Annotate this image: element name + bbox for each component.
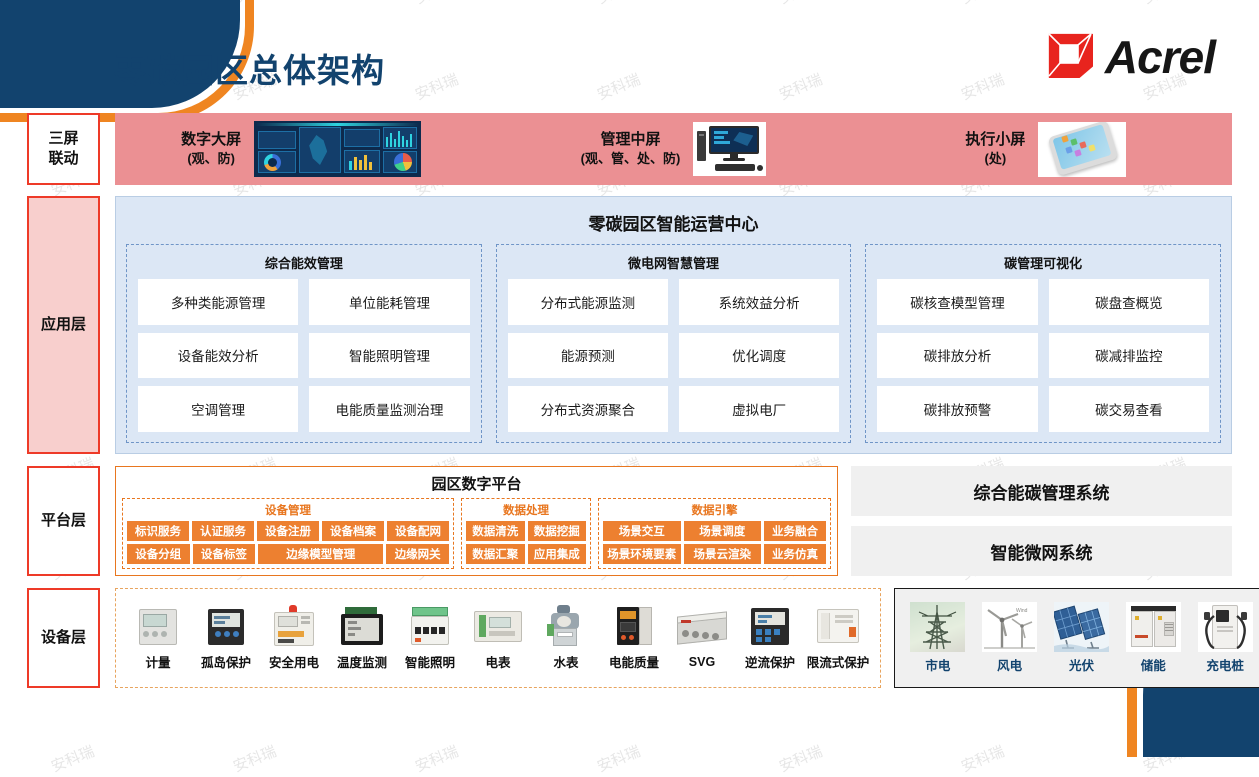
app-card[interactable]: 智能照明管理 — [309, 333, 469, 379]
layer-label-three-screen: 三屏 联动 — [27, 113, 100, 185]
app-group-title: 微电网智慧管理 — [508, 251, 840, 279]
screens-band: 数字大屏 (观、防) — [115, 113, 1232, 185]
application-panel-title: 零碳园区智能运营中心 — [126, 205, 1221, 244]
device-item-svg[interactable]: SVG — [668, 608, 736, 669]
app-card[interactable]: 空调管理 — [138, 386, 298, 432]
platform-group-data-processing: 数据处理 数据清洗 数据挖掘 数据汇聚 应用集成 — [461, 498, 591, 569]
device-label: 电表 — [485, 652, 510, 671]
platform-chip[interactable]: 设备档案 — [322, 521, 384, 541]
brand-logo: Acrel — [1047, 32, 1215, 82]
app-card[interactable]: 碳盘查概览 — [1049, 279, 1209, 325]
svg-text:Wind: Wind — [1016, 608, 1028, 614]
device-item-water-meter[interactable]: 水表 — [532, 605, 600, 671]
app-group-carbon-visualization: 碳管理可视化 碳核查模型管理 碳盘查概览 碳排放分析 碳减排监控 碳排放预警 碳… — [865, 244, 1221, 443]
device-item-island-protection[interactable]: 孤岛保护 — [192, 605, 260, 671]
acrel-logo-icon — [1047, 32, 1097, 82]
device-label: 电能质量 — [609, 652, 659, 671]
source-item-grid-power[interactable]: 市电 — [910, 602, 965, 674]
device-item-electricity-meter[interactable]: 电表 — [464, 605, 532, 671]
platform-chip[interactable]: 设备配网 — [387, 521, 449, 541]
reverse-protection-icon — [743, 605, 797, 649]
digital-platform-box: 园区数字平台 设备管理 标识服务 认证服务 设备注册 设备档案 设备配网 设备 — [115, 466, 838, 576]
energy-meter-icon — [471, 605, 525, 649]
app-card-grid: 分布式能源监测 系统效益分析 能源预测 优化调度 分布式资源聚合 虚拟电厂 — [508, 279, 840, 432]
application-groups: 综合能效管理 多种类能源管理 单位能耗管理 设备能效分析 智能照明管理 空调管理… — [126, 244, 1221, 443]
app-card[interactable]: 虚拟电厂 — [679, 386, 839, 432]
device-item-reverse-power-protection[interactable]: 逆流保护 — [736, 605, 804, 671]
battery-cabinet-icon — [1126, 602, 1181, 652]
watermark-text: 安科瑞 — [230, 740, 280, 776]
platform-group-title: 数据处理 — [466, 501, 586, 521]
platform-chip[interactable]: 场景交互 — [603, 521, 681, 541]
platform-chip-row: 数据汇聚 应用集成 — [466, 544, 586, 564]
desktop-monitor-thumbnail-icon — [693, 122, 766, 176]
platform-chip[interactable]: 边缘模型管理 — [258, 544, 383, 564]
watermark-text: 安科瑞 — [412, 740, 462, 776]
source-label: 光伏 — [1069, 655, 1094, 674]
app-card[interactable]: 分布式能源监测 — [508, 279, 668, 325]
app-card[interactable]: 碳核查模型管理 — [877, 279, 1037, 325]
app-group-title: 碳管理可视化 — [877, 251, 1209, 279]
source-item-wind-power[interactable]: Wind 风电 — [982, 602, 1037, 674]
platform-chip[interactable]: 设备分组 — [127, 544, 190, 564]
screen-sub-big: (观、防) — [181, 150, 241, 168]
safety-device-icon — [267, 605, 321, 649]
device-label: 孤岛保护 — [201, 652, 251, 671]
platform-systems: 综合能碳管理系统 智能微网系统 — [851, 466, 1232, 576]
panel-meter-icon — [335, 605, 389, 649]
source-label: 市电 — [925, 655, 950, 674]
platform-chip[interactable]: 边缘网关 — [386, 544, 449, 564]
app-card[interactable]: 碳排放分析 — [877, 333, 1037, 379]
platform-group-device-management: 设备管理 标识服务 认证服务 设备注册 设备档案 设备配网 设备分组 设备标签 — [122, 498, 454, 569]
platform-chip-rows: 场景交互 场景调度 业务融合 场景环境要素 场景云渲染 业务仿真 — [603, 521, 826, 564]
platform-chip[interactable]: 数据清洗 — [466, 521, 525, 541]
watermark-text: 安科瑞 — [594, 740, 644, 776]
device-item-electrical-safety[interactable]: 安全用电 — [260, 605, 328, 671]
water-meter-icon — [539, 605, 593, 649]
platform-chip[interactable]: 场景环境要素 — [603, 544, 681, 564]
screen-sub-small: (处) — [965, 150, 1025, 168]
app-group-title: 综合能效管理 — [138, 251, 470, 279]
app-card[interactable]: 多种类能源管理 — [138, 279, 298, 325]
watermark-text: 安科瑞 — [958, 740, 1008, 776]
platform-chip-row: 设备分组 设备标签 边缘模型管理 边缘网关 — [127, 544, 449, 564]
screen-item-medium[interactable]: 管理中屏 (观、管、处、防) — [487, 122, 859, 176]
app-card-grid: 碳核查模型管理 碳盘查概览 碳排放分析 碳减排监控 碳排放预警 碳交易查看 — [877, 279, 1209, 432]
system-box-smart-microgrid[interactable]: 智能微网系统 — [851, 526, 1232, 576]
platform-chip[interactable]: 数据汇聚 — [466, 544, 525, 564]
layer-label-device: 设备层 — [27, 588, 100, 688]
digital-platform-title: 园区数字平台 — [122, 471, 831, 498]
solar-panel-icon — [1054, 602, 1109, 652]
platform-chip-row: 场景环境要素 场景云渲染 业务仿真 — [603, 544, 826, 564]
smartphone-thumbnail-icon — [1038, 122, 1126, 177]
watermark-text: 安科瑞 — [776, 740, 826, 776]
app-group-microgrid-management: 微电网智慧管理 分布式能源监测 系统效益分析 能源预测 优化调度 分布式资源聚合… — [496, 244, 852, 443]
platform-group-title: 数据引擎 — [603, 501, 826, 521]
source-label: 充电桩 — [1206, 655, 1244, 674]
platform-chip[interactable]: 设备注册 — [257, 521, 319, 541]
layer-label-application: 应用层 — [27, 196, 100, 454]
current-limiter-icon — [811, 605, 865, 649]
screen-caption-big: 数字大屏 (观、防) — [181, 130, 241, 168]
source-item-energy-storage[interactable]: 储能 — [1126, 602, 1181, 674]
app-card[interactable]: 碳减排监控 — [1049, 333, 1209, 379]
app-card[interactable]: 电能质量监测治理 — [309, 386, 469, 432]
platform-groups: 设备管理 标识服务 认证服务 设备注册 设备档案 设备配网 设备分组 设备标签 — [122, 498, 831, 569]
dashboard-thumbnail-icon — [254, 121, 421, 177]
source-label: 风电 — [997, 655, 1022, 674]
protection-relay-icon — [199, 605, 253, 649]
application-panel: 零碳园区智能运营中心 综合能效管理 多种类能源管理 单位能耗管理 设备能效分析 … — [115, 196, 1232, 454]
source-item-photovoltaic[interactable]: 光伏 — [1054, 602, 1109, 674]
screen-sub-medium: (观、管、处、防) — [581, 150, 681, 168]
screen-item-small[interactable]: 执行小屏 (处) — [860, 122, 1232, 177]
energy-source-box: 市电 Wind 风电 — [894, 588, 1259, 688]
app-card[interactable]: 碳交易查看 — [1049, 386, 1209, 432]
screen-caption-medium: 管理中屏 (观、管、处、防) — [581, 130, 681, 168]
platform-chip[interactable]: 应用集成 — [528, 544, 587, 564]
platform-chip-rows: 数据清洗 数据挖掘 数据汇聚 应用集成 — [466, 521, 586, 564]
platform-chip[interactable]: 场景调度 — [684, 521, 762, 541]
header: 零碳园区总体架构 Acrel — [0, 0, 1259, 108]
layer-label-line-2: 联动 — [48, 150, 78, 167]
app-card[interactable]: 分布式资源聚合 — [508, 386, 668, 432]
wind-turbine-icon: Wind — [982, 602, 1037, 652]
device-label: 逆流保护 — [745, 652, 795, 671]
screen-title-medium: 管理中屏 — [581, 130, 681, 150]
app-group-integrated-energy-efficiency: 综合能效管理 多种类能源管理 单位能耗管理 设备能效分析 智能照明管理 空调管理… — [126, 244, 482, 443]
source-item-ev-charging[interactable]: 充电桩 — [1198, 602, 1253, 674]
layer-label-platform: 平台层 — [27, 466, 100, 576]
device-item-temperature-monitoring[interactable]: 温度监测 — [328, 605, 396, 671]
platform-chip-row: 场景交互 场景调度 业务融合 — [603, 521, 826, 541]
app-card[interactable]: 优化调度 — [679, 333, 839, 379]
device-item-metering[interactable]: 计量 — [124, 605, 192, 671]
screen-title-big: 数字大屏 — [181, 130, 241, 150]
platform-content: 园区数字平台 设备管理 标识服务 认证服务 设备注册 设备档案 设备配网 设备 — [115, 466, 1232, 576]
platform-chip[interactable]: 设备标签 — [193, 544, 256, 564]
device-label: SVG — [689, 655, 715, 669]
device-label: 安全用电 — [269, 652, 319, 671]
platform-chip[interactable]: 业务仿真 — [764, 544, 826, 564]
device-label: 限流式保护 — [807, 652, 870, 671]
device-layer-row: 设备层 计量 — [27, 588, 1232, 688]
platform-chip[interactable]: 认证服务 — [192, 521, 254, 541]
transmission-tower-icon — [910, 602, 965, 652]
platform-chip[interactable]: 数据挖掘 — [528, 521, 587, 541]
three-screen-linkage-row: 三屏 联动 数字大屏 (观、防) — [27, 113, 1232, 185]
platform-chip[interactable]: 业务融合 — [764, 521, 826, 541]
platform-chip[interactable]: 场景云渲染 — [684, 544, 762, 564]
platform-chip[interactable]: 标识服务 — [127, 521, 189, 541]
app-card-grid: 多种类能源管理 单位能耗管理 设备能效分析 智能照明管理 空调管理 电能质量监测… — [138, 279, 470, 432]
device-label: 水表 — [553, 652, 578, 671]
screen-title-small: 执行小屏 — [965, 130, 1025, 150]
screen-caption-small: 执行小屏 (处) — [965, 130, 1025, 168]
device-label: 计量 — [145, 652, 170, 671]
device-content: 计量 孤岛保护 — [115, 588, 1259, 688]
watermark-text: 安科瑞 — [48, 740, 98, 776]
app-card[interactable]: 系统效益分析 — [679, 279, 839, 325]
screen-item-big[interactable]: 数字大屏 (观、防) — [115, 121, 487, 177]
layer-label-line-1: 三屏 — [48, 130, 78, 147]
device-label: 温度监测 — [337, 652, 387, 671]
system-box-integrated-energy-carbon[interactable]: 综合能碳管理系统 — [851, 466, 1232, 516]
svg-cabinet-icon — [675, 608, 729, 652]
lighting-controller-icon — [403, 605, 457, 649]
device-item-current-limiting-protection[interactable]: 限流式保护 — [804, 605, 872, 671]
platform-chip-rows: 标识服务 认证服务 设备注册 设备档案 设备配网 设备分组 设备标签 边缘模型管… — [127, 521, 449, 564]
ev-charger-icon — [1198, 602, 1253, 652]
application-layer-row: 应用层 零碳园区智能运营中心 综合能效管理 多种类能源管理 单位能耗管理 设备能… — [27, 196, 1232, 454]
logo-text: Acrel — [1105, 33, 1215, 81]
app-card[interactable]: 碳排放预警 — [877, 386, 1037, 432]
platform-group-data-engine: 数据引擎 场景交互 场景调度 业务融合 场景环境要素 场景云渲染 业务仿真 — [598, 498, 831, 569]
device-item-smart-lighting[interactable]: 智能照明 — [396, 605, 464, 671]
app-card[interactable]: 设备能效分析 — [138, 333, 298, 379]
din-rail-meter-icon — [131, 605, 185, 649]
power-quality-device-icon — [607, 605, 661, 649]
platform-group-title: 设备管理 — [127, 501, 449, 521]
app-card[interactable]: 单位能耗管理 — [309, 279, 469, 325]
page-title: 零碳园区总体架构 — [113, 44, 385, 92]
source-label: 储能 — [1141, 655, 1166, 674]
device-item-power-quality[interactable]: 电能质量 — [600, 605, 668, 671]
platform-layer-row: 平台层 园区数字平台 设备管理 标识服务 认证服务 设备注册 设备档案 设备配网 — [27, 466, 1232, 576]
platform-chip-row: 标识服务 认证服务 设备注册 设备档案 设备配网 — [127, 521, 449, 541]
device-label: 智能照明 — [405, 652, 455, 671]
app-card[interactable]: 能源预测 — [508, 333, 668, 379]
device-list-box: 计量 孤岛保护 — [115, 588, 881, 688]
platform-chip-row: 数据清洗 数据挖掘 — [466, 521, 586, 541]
